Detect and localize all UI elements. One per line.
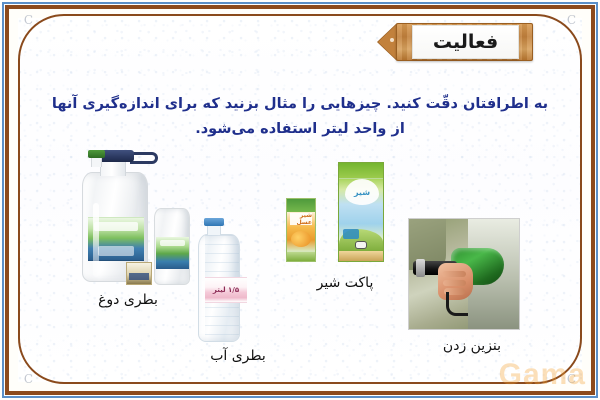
milk-carton-large-badge — [343, 229, 359, 239]
activity-banner-title: فعالیت — [412, 25, 519, 59]
milk-carton-small-icon: شیر عسل — [286, 198, 316, 262]
doogh-small-bottle-icon — [154, 208, 190, 285]
fruit-icon — [291, 231, 311, 247]
instruction-text: به اطرافتان دقّت کنید. چیزهایی را مثال ب… — [44, 92, 556, 143]
figure-gasoline-photo — [408, 218, 520, 330]
milk-carton-small-top — [287, 199, 315, 212]
milk-carton-small-bottom — [287, 252, 315, 261]
finger — [443, 280, 466, 287]
figure-milk-carton: شیر شیر عسل — [286, 162, 384, 266]
content-area: فعالیت به اطرافتان دقّت کنید. چیزهایی را… — [0, 0, 600, 400]
milk-carton-large-brand-text: شیر — [345, 179, 379, 205]
milk-carton-large-icon: شیر — [338, 162, 384, 262]
figure-label-water: بطری آب — [178, 348, 298, 364]
figure-water-bottle: ۱/۵ لیتر — [192, 218, 248, 344]
cow-icon — [355, 241, 367, 249]
figure-label-doogh: بطری دوغ — [68, 292, 188, 308]
doogh-tiny-carton-icon — [126, 262, 152, 285]
water-bottle-label-band: ۱/۵ لیتر — [205, 277, 247, 303]
doogh-small-bottle-label-band — [156, 237, 189, 269]
water-bottle-cap — [204, 218, 224, 226]
banner-nail-icon — [390, 38, 394, 42]
figure-label-milk: پاکت شیر — [290, 275, 400, 291]
fuel-nozzle-trigger — [446, 292, 468, 316]
milk-carton-small-brand-text: شیر عسل — [290, 213, 312, 225]
finger — [442, 271, 466, 278]
fuel-nozzle-collar — [416, 259, 426, 278]
worksheet-page: C C C C فعالیت به اطرافتان دقّت کنید. چی… — [0, 0, 600, 400]
water-bottle-volume-text: ۱/۵ لیتر — [213, 286, 239, 294]
gasoline-photo-frame — [408, 218, 520, 330]
watermark-text: Gama — [499, 358, 586, 392]
doogh-jug-highlight — [93, 203, 99, 277]
figure-label-gasoline: بنزین زدن — [412, 338, 532, 354]
banner-arrow-tail — [378, 23, 398, 61]
doogh-jug-handle — [130, 152, 158, 164]
activity-banner: فعالیت — [378, 18, 533, 66]
milk-carton-large-bottom — [339, 251, 383, 261]
milk-carton-large-splash: شیر — [345, 179, 379, 205]
doogh-small-bottle-cap — [88, 150, 105, 158]
figure-doogh-bottle — [78, 150, 206, 285]
water-bottle-icon: ۱/۵ لیتر — [198, 234, 240, 342]
milk-carton-large-top — [339, 163, 383, 179]
